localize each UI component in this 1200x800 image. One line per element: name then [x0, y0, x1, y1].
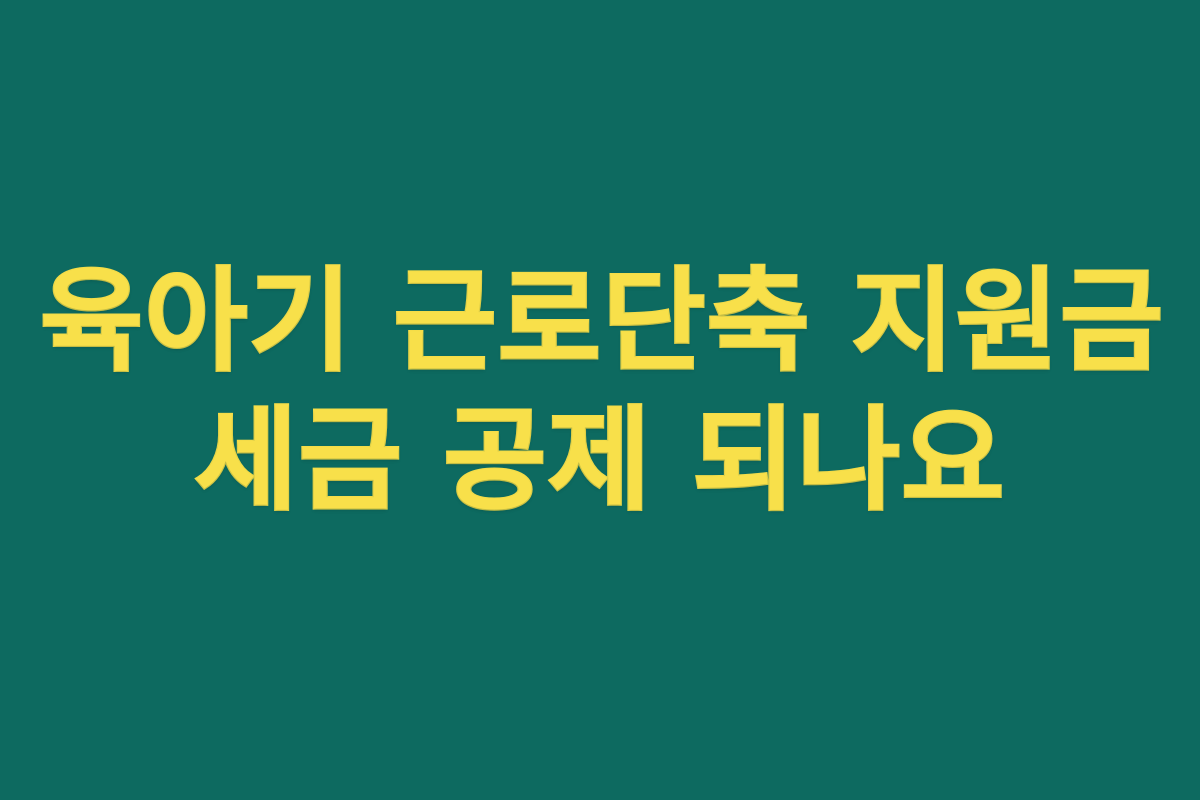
headline-line-1: 육아기 근로단축 지원금: [40, 260, 1160, 385]
headline-line-2: 세금 공제 되나요: [40, 399, 1160, 524]
headline-block: 육아기 근로단축 지원금 세금 공제 되나요: [0, 260, 1200, 525]
thumbnail-card: 육아기 근로단축 지원금 세금 공제 되나요: [0, 0, 1200, 800]
